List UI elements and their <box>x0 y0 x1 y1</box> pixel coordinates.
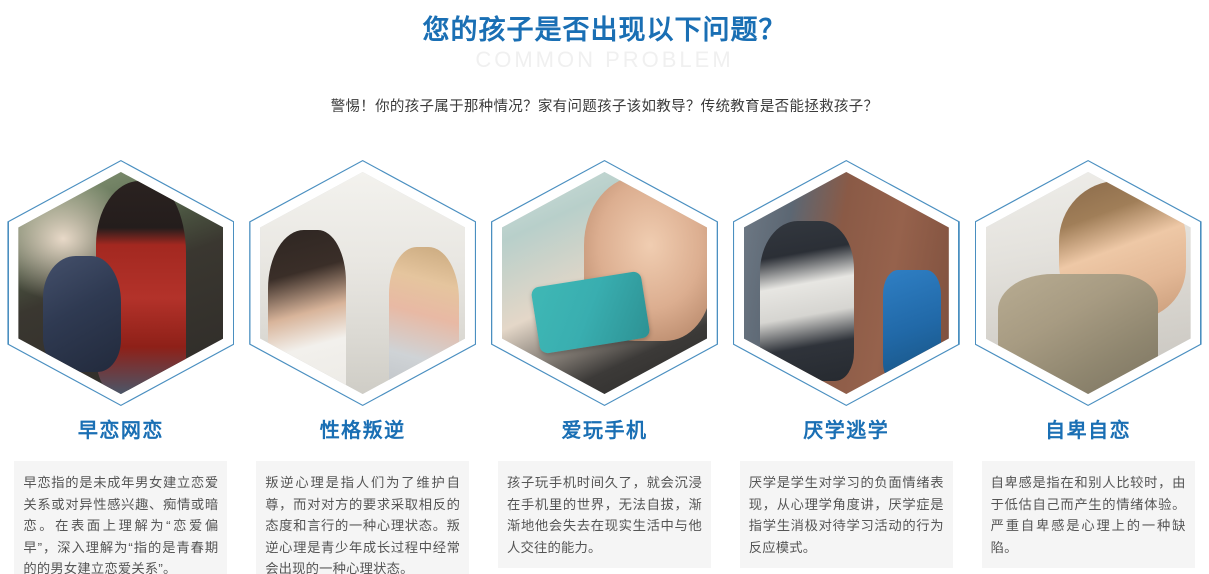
problem-card[interactable]: 厌学逃学 厌学是学生对学习的负面情绪表现，从心理学角度讲，厌学症是指学生消极对待… <box>725 160 967 568</box>
hexagon-image-frame[interactable] <box>7 160 234 406</box>
page-subtitle-watermark: COMMON PROBLEM <box>0 47 1209 73</box>
problem-card[interactable]: 自卑自恋 自卑感是指在和别人比较时，由于低估自己而产生的情绪体验。严重自卑感是心… <box>967 160 1209 568</box>
page-title: 您的孩子是否出现以下问题？ <box>0 14 1209 46</box>
card-description: 叛逆心理是指人们为了维护自尊，而对对方的要求采取相反的态度和言行的一种心理状态。… <box>256 461 469 574</box>
card-title: 性格叛逆 <box>320 418 406 444</box>
problem-card[interactable]: 爱玩手机 孩子玩手机时间久了，就会沉浸在手机里的世界，无法自拔，渐渐地他会失去在… <box>484 160 726 568</box>
hexagon-image-frame[interactable] <box>491 160 718 406</box>
problem-card-list: 早恋网恋 早恋指的是未成年男女建立恋爱关系或对异性感兴趣、痴情或暗恋。在表面上理… <box>0 160 1209 574</box>
problem-card[interactable]: 早恋网恋 早恋指的是未成年男女建立恋爱关系或对异性感兴趣、痴情或暗恋。在表面上理… <box>0 160 242 574</box>
card-description: 早恋指的是未成年男女建立恋爱关系或对异性感兴趣、痴情或暗恋。在表面上理解为“恋爱… <box>14 461 227 574</box>
common-problem-section: 您的孩子是否出现以下问题？ COMMON PROBLEM 警惕！你的孩子属于那种… <box>0 0 1209 574</box>
hexagon-image-frame[interactable] <box>733 160 960 406</box>
title-stack: 您的孩子是否出现以下问题？ COMMON PROBLEM <box>0 0 1209 78</box>
card-title: 早恋网恋 <box>78 418 164 444</box>
card-description: 孩子玩手机时间久了，就会沉浸在手机里的世界，无法自拔，渐渐地他会失去在现实生活中… <box>498 461 711 568</box>
card-title: 厌学逃学 <box>803 418 889 444</box>
card-description: 自卑感是指在和别人比较时，由于低估自己而产生的情绪体验。严重自卑感是心理上的一种… <box>982 461 1195 568</box>
lead-paragraph: 警惕！你的孩子属于那种情况？家有问题孩子该如教导？传统教育是否能拯救孩子？ <box>0 96 1209 118</box>
problem-card[interactable]: 性格叛逆 叛逆心理是指人们为了维护自尊，而对对方的要求采取相反的态度和言行的一种… <box>242 160 484 574</box>
hexagon-image-frame[interactable] <box>975 160 1202 406</box>
section-header: 您的孩子是否出现以下问题？ COMMON PROBLEM 警惕！你的孩子属于那种… <box>0 0 1209 78</box>
hexagon-image-frame[interactable] <box>249 160 476 406</box>
card-description: 厌学是学生对学习的负面情绪表现，从心理学角度讲，厌学症是指学生消极对待学习活动的… <box>740 461 953 568</box>
card-title: 爱玩手机 <box>561 418 647 444</box>
card-title: 自卑自恋 <box>1045 418 1131 444</box>
